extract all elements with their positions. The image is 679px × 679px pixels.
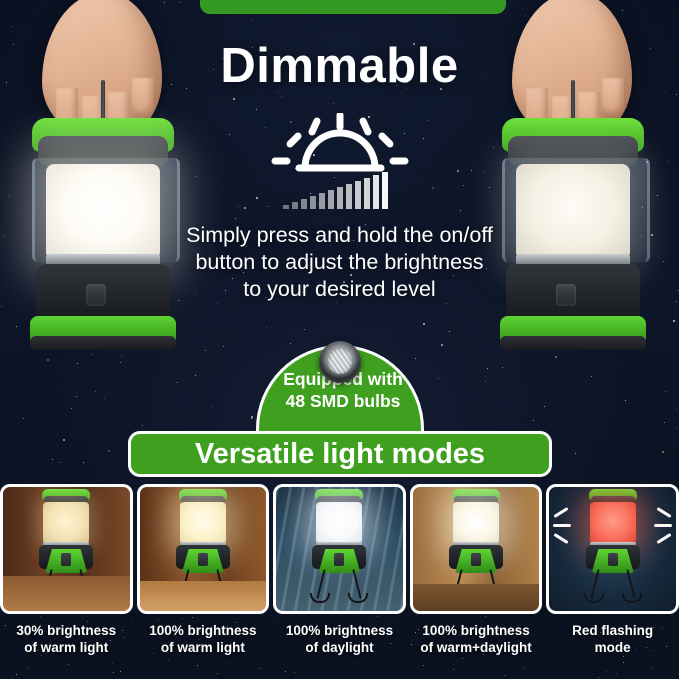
mode-caption-red-flashing: Red flashing mode <box>546 620 679 679</box>
description-line-2: button to adjust the brightness <box>140 249 540 276</box>
mini-lantern-mixed-100 <box>439 487 513 605</box>
mode-caption-mixed-100: 100% brightness of warm+daylight <box>410 620 543 679</box>
mode-caption-row: 30% brightness of warm light 100% bright… <box>0 620 679 679</box>
mini-light-daylight-100 <box>316 502 362 544</box>
mini-lantern-red-flashing <box>576 487 650 605</box>
mode-caption-warm-30: 30% brightness of warm light <box>0 620 133 679</box>
mini-light-warm-100 <box>180 502 226 544</box>
caption-line-2: mode <box>595 640 631 655</box>
lantern-base-dark-right <box>500 336 646 350</box>
mini-light-mixed-100 <box>453 502 499 544</box>
description-text: Simply press and hold the on/off button … <box>140 222 540 303</box>
modes-banner-title: Versatile light modes <box>131 434 549 474</box>
mode-thumbnail-warm-100 <box>137 484 270 614</box>
mini-light-warm-30 <box>43 502 89 544</box>
infographic-root: Dimmable <box>0 0 679 679</box>
description-line-1: Simply press and hold the on/off <box>140 222 540 249</box>
smd-led-module-icon <box>319 341 361 383</box>
caption-line-1: 100% brightness <box>286 623 393 638</box>
caption-line-2: of warm light <box>161 640 245 655</box>
versatile-light-modes-banner: Versatile light modes <box>128 431 552 477</box>
power-button-left <box>86 284 106 306</box>
caption-line-1: Red flashing <box>572 623 653 638</box>
mode-caption-daylight-100: 100% brightness of daylight <box>273 620 406 679</box>
caption-line-2: of daylight <box>305 640 373 655</box>
smd-badge-line-2: 48 SMD bulbs <box>259 390 424 412</box>
caption-line-1: 30% brightness <box>16 623 116 638</box>
page-title: Dimmable <box>0 38 679 94</box>
top-green-banner <box>200 0 506 14</box>
mini-lantern-warm-100 <box>166 487 240 605</box>
flash-lines-right-icon <box>652 509 672 543</box>
caption-line-1: 100% brightness <box>149 623 256 638</box>
lantern-base-dark-left <box>30 336 176 350</box>
power-button-right <box>556 284 576 306</box>
mode-thumbnail-warm-30 <box>0 484 133 614</box>
caption-line-2: of warm+daylight <box>420 640 531 655</box>
mode-thumbnail-mixed-100 <box>410 484 543 614</box>
caption-line-1: 100% brightness <box>422 623 529 638</box>
caption-line-2: of warm light <box>24 640 108 655</box>
mini-lantern-warm-30 <box>29 487 103 605</box>
brightness-dimmer-icon <box>265 113 415 213</box>
smd-lens <box>328 348 352 374</box>
brightness-level-bars <box>279 171 388 209</box>
mode-thumbnail-row <box>0 484 679 614</box>
flash-lines-left-icon <box>553 509 573 543</box>
mini-lantern-daylight-100 <box>302 487 376 605</box>
mini-light-red-flashing <box>590 502 636 544</box>
mode-caption-warm-100: 100% brightness of warm light <box>137 620 270 679</box>
description-line-3: to your desired level <box>140 276 540 303</box>
mode-thumbnail-red-flashing <box>546 484 679 614</box>
mode-thumbnail-daylight-100 <box>273 484 406 614</box>
